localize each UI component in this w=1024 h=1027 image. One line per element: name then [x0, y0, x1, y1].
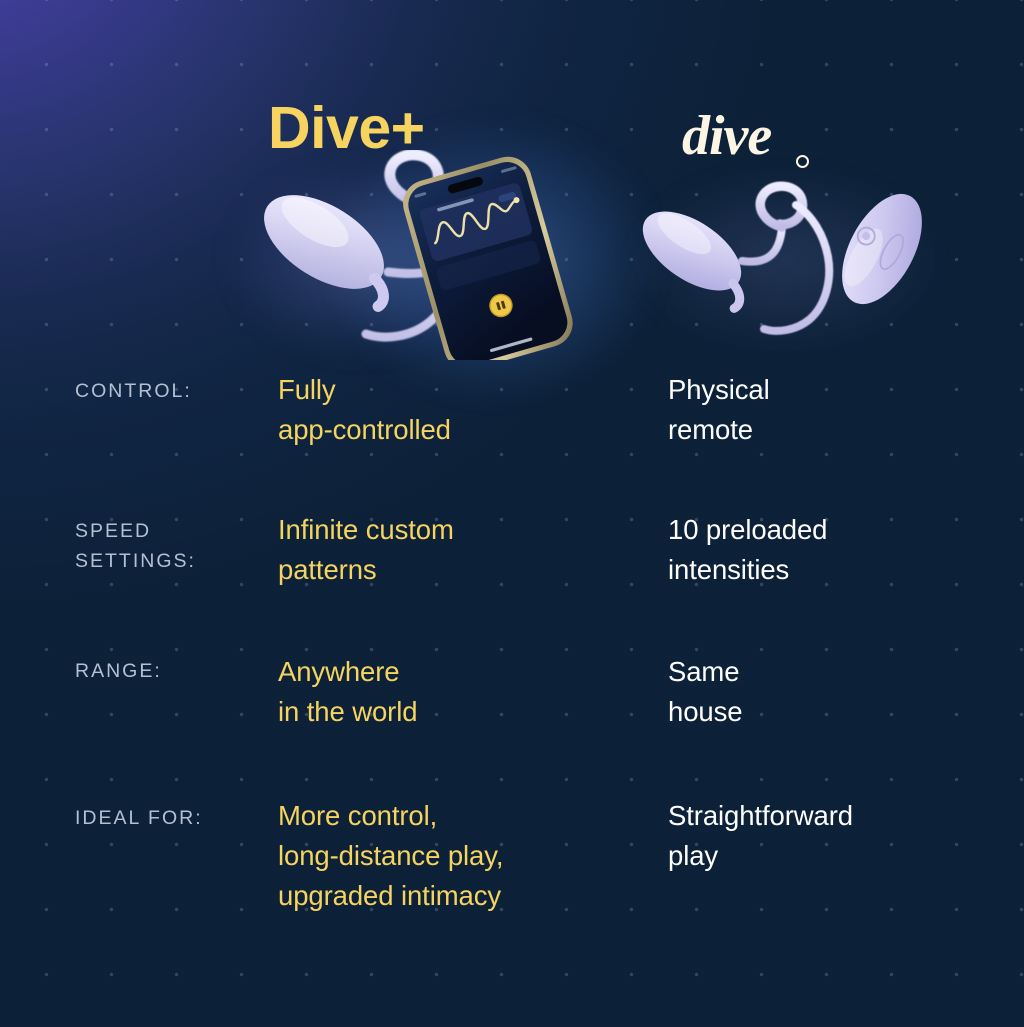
dive-plus-value-control: Fully app-controlled	[278, 370, 451, 450]
dive-value-speed-settings: 10 preloaded intensities	[668, 510, 827, 590]
dive-plus-value-speed-settings: Infinite custom patterns	[278, 510, 454, 590]
dive-title: dive	[682, 108, 771, 164]
row-label-speed-settings: SPEED SETTINGS:	[75, 516, 196, 576]
row-label-range: RANGE:	[75, 656, 162, 686]
row-label-control: CONTROL:	[75, 376, 192, 406]
dive-value-ideal-for: Straightforward play	[668, 796, 853, 876]
dive-value-range: Same house	[668, 652, 742, 732]
dive-logo-dot-icon	[796, 155, 809, 168]
dive-plus-value-ideal-for: More control, long-distance play, upgrad…	[278, 796, 503, 916]
dive-plus-value-range: Anywhere in the world	[278, 652, 417, 732]
dive-product-image	[630, 165, 960, 350]
egg-cord	[742, 186, 829, 331]
dive-value-control: Physical remote	[668, 370, 770, 450]
dive-plus-product-image	[236, 150, 596, 360]
egg-body	[248, 176, 412, 316]
egg-body	[630, 196, 765, 314]
remote-control	[826, 181, 939, 317]
row-label-ideal-for: IDEAL FOR:	[75, 803, 203, 833]
infographic-canvas: Dive+ dive CONTROL: Fully app-controlled…	[0, 0, 1024, 1027]
dive-plus-title: Dive+	[268, 99, 425, 158]
